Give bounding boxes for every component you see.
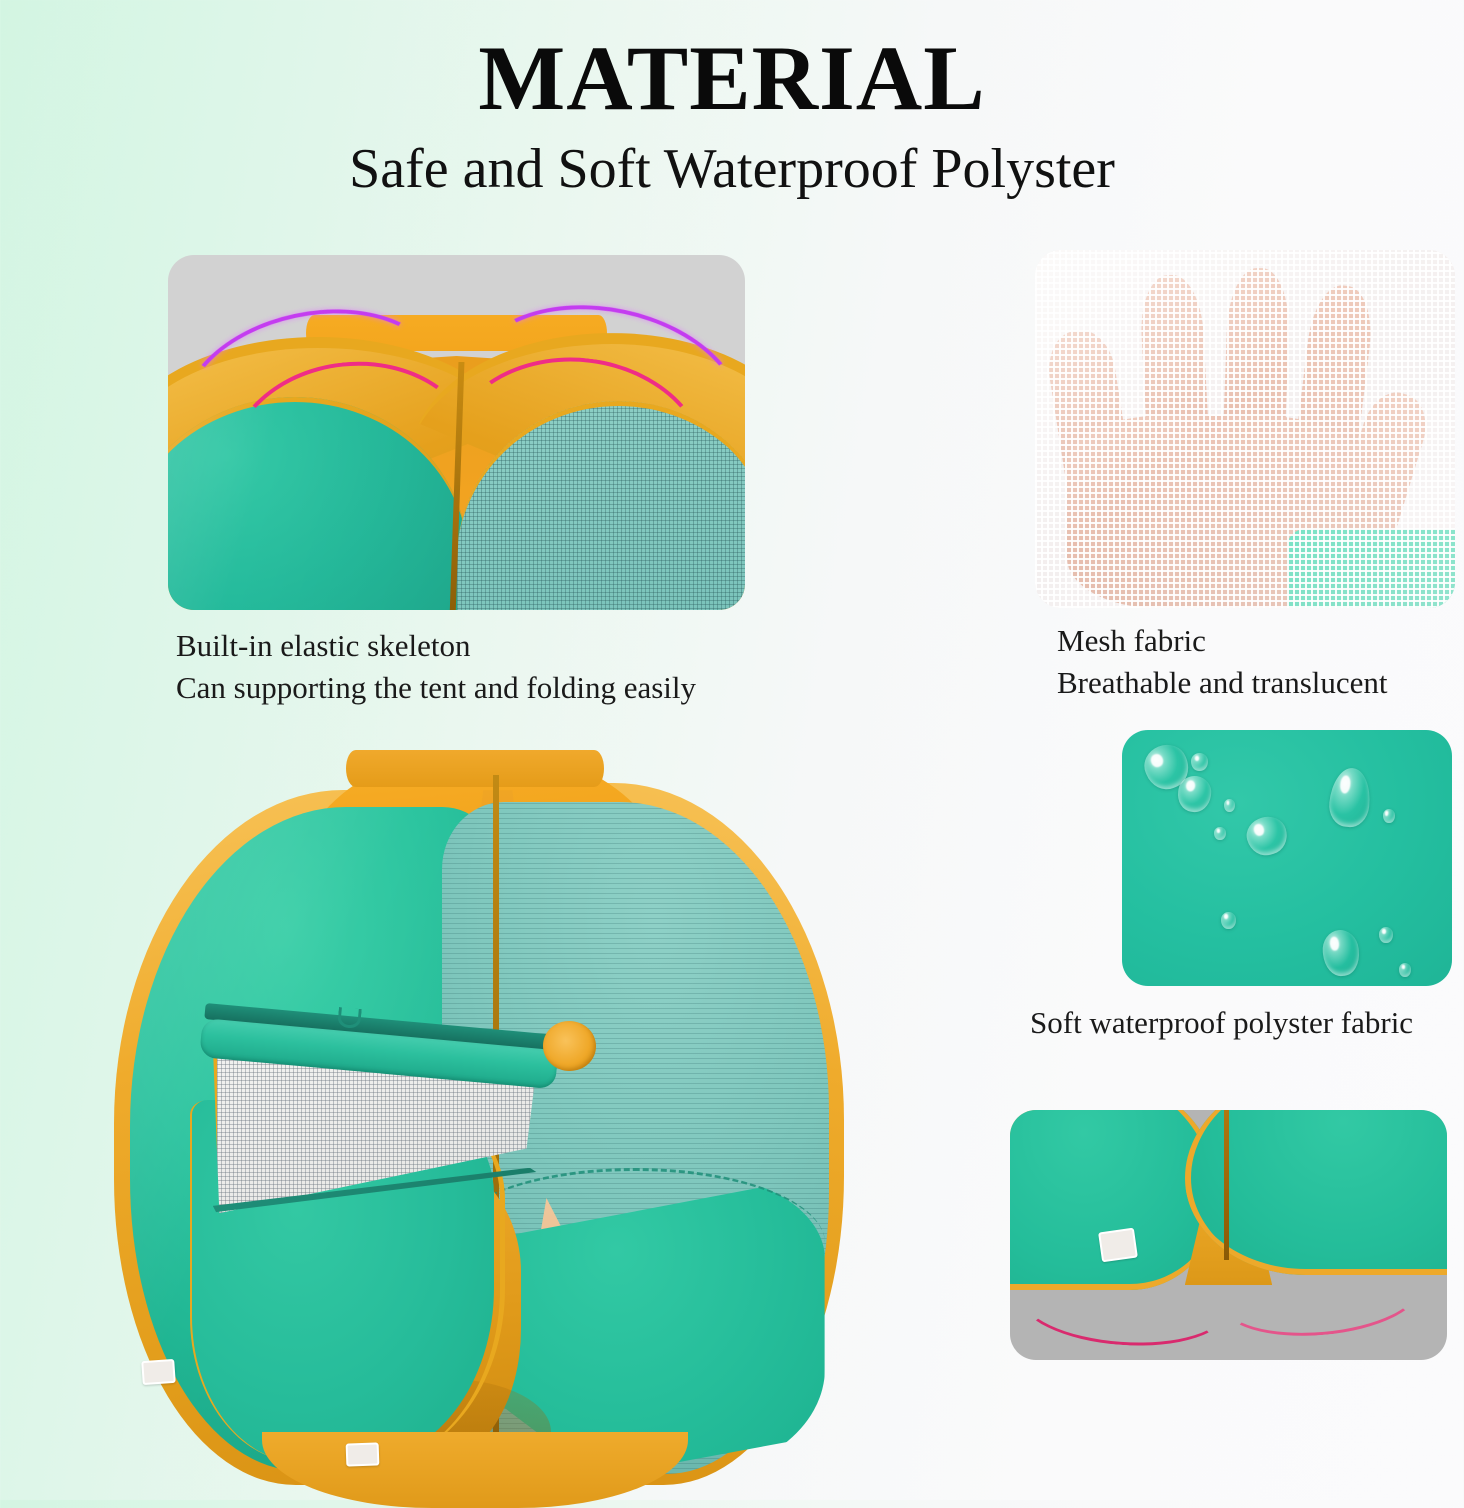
water-droplet [1383,809,1395,823]
caption-mesh-fabric: Mesh fabric Breathable and translucent [1057,620,1388,704]
caption-elastic-skeleton: Built-in elastic skeleton Can supporting… [176,625,696,709]
water-droplet [1214,827,1225,840]
product-image-pop-up-tent [95,745,855,1500]
water-droplet [1321,928,1362,978]
velcro-patch [345,1443,379,1468]
velcro-patch [141,1359,176,1385]
water-droplet [1399,963,1411,977]
caption-line-1: Built-in elastic skeleton [176,625,696,667]
caption-line-1: Mesh fabric [1057,620,1388,662]
caption-line-2: Can supporting the tent and folding easi… [176,667,696,709]
water-droplet [1243,812,1292,860]
water-droplet [1221,912,1236,929]
caption-line-1: Soft waterproof polyster fabric [1030,1002,1413,1044]
water-droplet [1224,799,1235,812]
caption-waterproof-fabric: Soft waterproof polyster fabric [1030,1002,1413,1044]
infographic-canvas: MATERIAL Safe and Soft Waterproof Polyst… [0,0,1464,1500]
velcro-patch [1098,1228,1138,1263]
caption-line-2: Breathable and translucent [1057,662,1388,704]
feature-image-waterproof-fabric [1122,730,1452,986]
tent-base-center-seam [1224,1110,1229,1260]
mesh-translucency-veil [1035,250,1455,608]
page-subtitle: Safe and Soft Waterproof Polyster [0,140,1464,199]
tent-apex-tab [346,750,604,788]
water-droplet [1379,927,1393,943]
water-droplet [1191,753,1208,771]
feature-image-elastic-skeleton [168,255,745,610]
feature-image-tent-base [1010,1110,1447,1360]
tent-bottom-skirt [262,1432,688,1508]
feature-image-mesh-fabric [1035,250,1455,608]
water-droplet [1327,766,1373,829]
page-title: MATERIAL [0,32,1464,124]
